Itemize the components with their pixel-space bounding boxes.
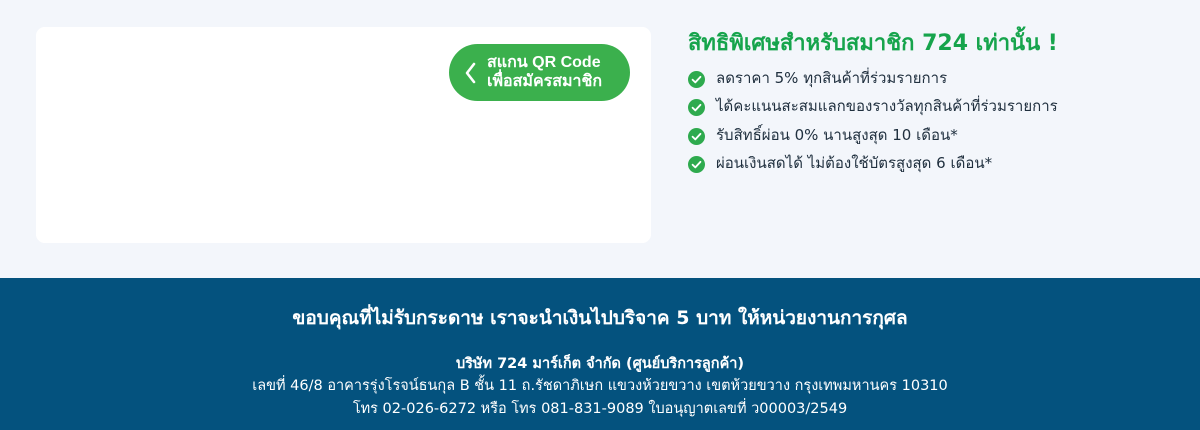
check-circle-icon (688, 128, 705, 145)
promo-section: สแกน QR Code เพื่อสมัครสมาชิก สิทธิพิเศษ… (0, 0, 1200, 278)
check-circle-icon (688, 71, 705, 88)
check-circle-icon (688, 99, 705, 116)
scan-qr-register-button[interactable]: สแกน QR Code เพื่อสมัครสมาชิก (449, 44, 630, 101)
benefits-panel: สิทธิพิเศษสำหรับสมาชิก 724 เท่านั้น ! ลด… (688, 30, 1168, 183)
list-item: ลดราคา 5% ทุกสินค้าที่ร่วมรายการ (688, 69, 1168, 89)
list-item: ได้คะแนนสะสมแลกของรางวัลทุกสินค้าที่ร่วม… (688, 97, 1168, 117)
benefit-text: ได้คะแนนสะสมแลกของรางวัลทุกสินค้าที่ร่วม… (716, 97, 1058, 117)
benefit-text: ลดราคา 5% ทุกสินค้าที่ร่วมรายการ (716, 69, 947, 89)
chevron-left-icon (463, 61, 478, 85)
list-item: ผ่อนเงินสดได้ ไม่ต้องใช้บัตรสูงสุด 6 เดื… (688, 154, 1168, 174)
footer-company-name: บริษัท 724 มาร์เก็ต จำกัด (ศูนย์บริการลู… (0, 354, 1200, 376)
scan-button-line-1: สแกน QR Code (487, 54, 602, 73)
footer: ขอบคุณที่ไม่รับกระดาษ เราจะนำเงินไปบริจา… (0, 278, 1200, 430)
benefit-text: รับสิทธิ์ผ่อน 0% นานสูงสุด 10 เดือน* (716, 126, 958, 146)
list-item: รับสิทธิ์ผ่อน 0% นานสูงสุด 10 เดือน* (688, 126, 1168, 146)
check-circle-icon (688, 156, 705, 173)
scan-button-line-2: เพื่อสมัครสมาชิก (487, 73, 602, 92)
footer-contact: โทร 02-026-6272 หรือ โทร 081-831-9089 ใบ… (0, 398, 1200, 420)
scan-button-label: สแกน QR Code เพื่อสมัครสมาชิก (487, 54, 602, 92)
footer-headline: ขอบคุณที่ไม่รับกระดาษ เราจะนำเงินไปบริจา… (0, 306, 1200, 332)
footer-address: เลขที่ 46/8 อาคารรุ่งโรจน์ธนกุล B ชั้น 1… (0, 375, 1200, 397)
benefits-list: ลดราคา 5% ทุกสินค้าที่ร่วมรายการ ได้คะแน… (688, 69, 1168, 174)
benefits-heading: สิทธิพิเศษสำหรับสมาชิก 724 เท่านั้น ! (688, 30, 1168, 58)
benefit-text: ผ่อนเงินสดได้ ไม่ต้องใช้บัตรสูงสุด 6 เดื… (716, 154, 992, 174)
